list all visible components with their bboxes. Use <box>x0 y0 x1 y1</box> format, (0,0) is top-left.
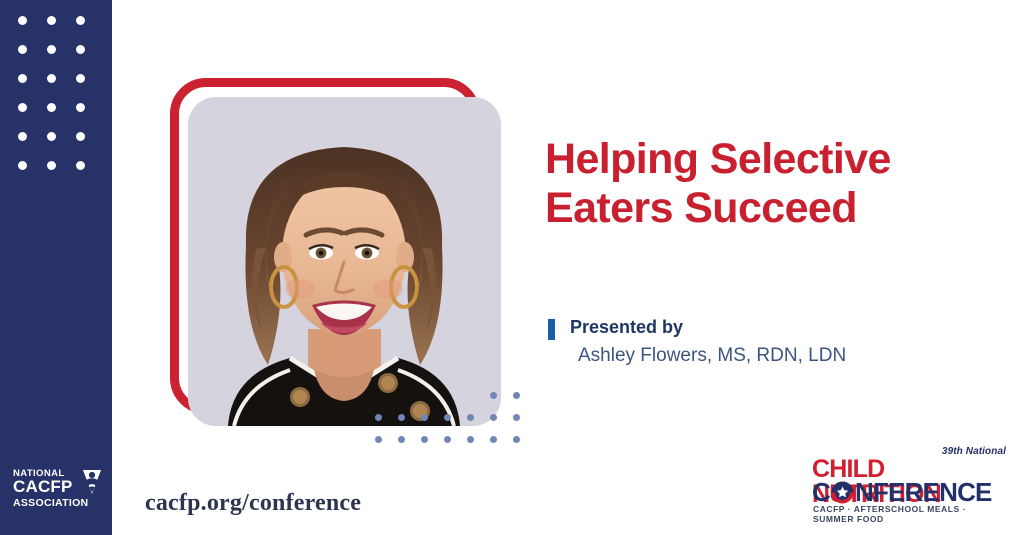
presented-by-label: Presented by <box>570 315 948 339</box>
sidebar-dot <box>18 132 27 141</box>
sidebar-dot <box>18 16 27 25</box>
sidebar-dot <box>47 161 56 170</box>
accent-dot <box>398 414 405 421</box>
conference-logo-line2: C NFERENCE <box>812 479 992 505</box>
conference-logo-tagline: CACFP · AFTERSCHOOL MEALS · SUMMER FOOD <box>813 504 1008 524</box>
cacfp-association-logo: NATIONAL CACFP ASSOCIATION <box>13 465 101 511</box>
sidebar-dot <box>18 74 27 83</box>
conference-logo-line2-after: NFERENCE <box>855 479 992 505</box>
sidebar-dot <box>76 132 85 141</box>
sidebar-dot <box>76 103 85 112</box>
accent-dot <box>375 414 382 421</box>
sidebar-dot <box>47 103 56 112</box>
presenter-block: Presented by Ashley Flowers, MS, RDN, LD… <box>548 315 948 370</box>
accent-dot <box>513 436 520 443</box>
sidebar: NATIONAL CACFP ASSOCIATION <box>0 0 112 535</box>
sidebar-dot <box>47 132 56 141</box>
sidebar-dot <box>76 45 85 54</box>
accent-dot <box>513 414 520 421</box>
sidebar-dot <box>76 74 85 83</box>
accent-dot <box>467 436 474 443</box>
sidebar-dot <box>18 45 27 54</box>
conference-url[interactable]: cacfp.org/conference <box>145 490 361 517</box>
accent-dot <box>421 436 428 443</box>
accent-dot <box>490 392 497 399</box>
sidebar-dot <box>47 16 56 25</box>
page-title: Helping Selective Eaters Succeed <box>545 135 965 233</box>
cacfp-diamond-emblem <box>83 470 101 494</box>
accent-dot <box>375 436 382 443</box>
sidebar-dot <box>18 103 27 112</box>
presenter-accent-bar <box>548 319 555 340</box>
star-in-circle-icon <box>830 480 855 505</box>
accent-dot <box>490 414 497 421</box>
accent-dot-pattern <box>375 392 520 460</box>
speaker-photo-container <box>170 78 510 430</box>
accent-dot <box>421 414 428 421</box>
accent-dot <box>467 414 474 421</box>
sidebar-dot <box>47 45 56 54</box>
presentation-slide: NATIONAL CACFP ASSOCIATION <box>0 0 1024 535</box>
cacfp-logo-line2: CACFP <box>13 477 73 496</box>
child-nutrition-conference-logo: 39th National CHILD NUTRITION C NFERENCE… <box>812 446 1008 518</box>
speaker-photo <box>188 97 501 426</box>
accent-dot <box>444 414 451 421</box>
sidebar-dot <box>47 74 56 83</box>
sidebar-dot <box>18 161 27 170</box>
sidebar-dot-pattern <box>0 0 112 200</box>
accent-dot <box>398 436 405 443</box>
conference-logo-line2-before: C <box>812 479 830 505</box>
conference-edition-label: 39th National <box>942 446 1006 457</box>
accent-dot <box>513 392 520 399</box>
accent-dot <box>490 436 497 443</box>
cacfp-logo-line3: ASSOCIATION <box>13 497 88 509</box>
sidebar-dot <box>76 161 85 170</box>
accent-dot <box>444 436 451 443</box>
sidebar-dot <box>76 16 85 25</box>
presenter-name: Ashley Flowers, MS, RDN, LDN <box>578 342 948 370</box>
